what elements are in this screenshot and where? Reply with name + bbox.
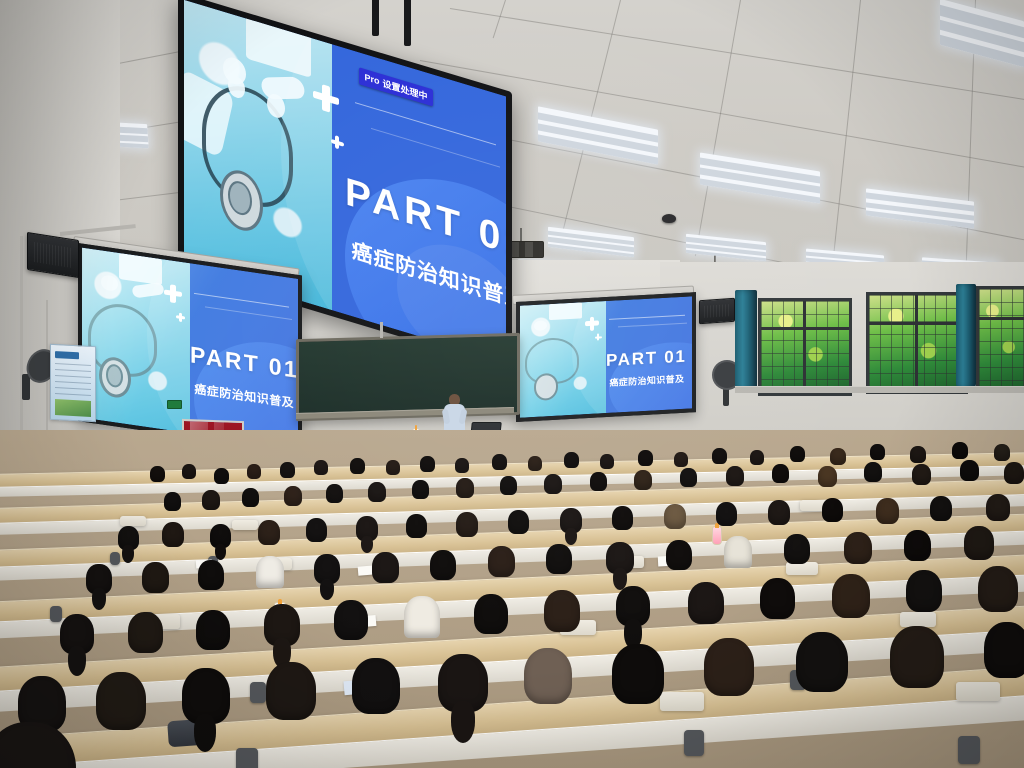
seat-armrest (958, 736, 980, 764)
student (182, 464, 196, 479)
student (86, 564, 112, 594)
seat-back (232, 520, 258, 530)
student (352, 658, 400, 714)
student (638, 450, 653, 466)
student (508, 510, 529, 534)
window (758, 298, 852, 396)
student (247, 464, 261, 479)
tv-ceiling-mount-stalk (404, 0, 411, 46)
student (196, 610, 230, 650)
student (314, 460, 328, 475)
student (822, 498, 843, 522)
student (910, 446, 926, 463)
student (864, 462, 882, 482)
medical-cross-icon (164, 283, 182, 304)
student (960, 460, 979, 481)
student (118, 526, 139, 550)
student (546, 544, 572, 574)
seat-back (900, 612, 936, 627)
tv-ceiling-mount-stalk (372, 0, 379, 36)
seat-back (956, 682, 1000, 701)
student (906, 570, 942, 612)
student (350, 458, 365, 474)
student (524, 648, 572, 704)
student (406, 514, 427, 538)
student (612, 644, 664, 704)
poster-photo (55, 399, 92, 417)
student (266, 662, 316, 720)
pill-jar-lid (101, 274, 117, 292)
student (830, 448, 846, 465)
student (306, 518, 327, 542)
student (994, 444, 1010, 461)
wall-conduit (20, 236, 23, 451)
student (256, 556, 284, 588)
student (560, 508, 582, 533)
evacuation-notice-poster (50, 344, 96, 422)
window-curtain (956, 284, 976, 388)
student (474, 594, 508, 634)
student (704, 638, 754, 696)
student (280, 462, 295, 478)
pill-jar-lid (534, 320, 547, 331)
student (844, 532, 872, 564)
chalkboard-hanger (380, 322, 383, 338)
student (162, 522, 184, 547)
drink-cup (712, 526, 722, 545)
student (142, 562, 169, 593)
student (666, 540, 692, 570)
dome-security-camera (662, 214, 676, 223)
student (488, 546, 515, 577)
student (634, 470, 652, 490)
stethoscope-chestpiece (534, 373, 559, 401)
student (984, 622, 1024, 678)
pill-blister-pack (549, 302, 582, 319)
pro-badge-prefix: Pro (364, 72, 379, 87)
student (456, 478, 474, 498)
student (528, 456, 542, 471)
student (264, 604, 300, 646)
student (674, 452, 688, 467)
student (430, 550, 456, 580)
audience-seating-area: You Have To Believe (0, 430, 1024, 768)
student (198, 560, 224, 590)
student (96, 672, 146, 730)
medical-cross-icon-small (176, 312, 185, 322)
student (772, 464, 789, 483)
student (372, 552, 399, 583)
student (420, 456, 435, 472)
student (606, 542, 634, 574)
student (564, 452, 579, 468)
slide-part-01-right: PART 01 癌症防治知识普及 (520, 296, 692, 417)
seat-armrest (236, 748, 258, 768)
student (210, 524, 231, 548)
student (912, 464, 931, 485)
student (356, 516, 378, 541)
student (832, 574, 870, 618)
student (412, 480, 429, 499)
student (904, 530, 931, 561)
student (60, 614, 94, 654)
student (492, 454, 507, 470)
student (404, 596, 440, 638)
student (368, 482, 386, 502)
student (616, 586, 650, 626)
student (726, 466, 744, 486)
projection-screen-right[interactable]: PART 01 癌症防治知识普及 (516, 292, 696, 422)
student (242, 488, 259, 507)
student (314, 554, 340, 584)
student (876, 498, 899, 524)
student (590, 472, 607, 491)
window-curtain (735, 290, 757, 390)
student (1004, 462, 1024, 484)
student (214, 468, 229, 484)
student (818, 466, 837, 487)
student (784, 534, 810, 564)
student (870, 444, 885, 460)
window-sill (735, 386, 1024, 393)
student (182, 668, 230, 724)
student (712, 448, 727, 464)
student (790, 446, 805, 462)
student (612, 506, 633, 530)
student (930, 496, 952, 521)
seat-back (120, 516, 146, 526)
seat-back (660, 692, 704, 711)
student (760, 578, 795, 619)
student (768, 500, 790, 525)
student (386, 460, 400, 475)
exit-sign (167, 400, 182, 409)
seat-armrest (250, 682, 266, 703)
seat-armrest (684, 730, 704, 756)
student (334, 600, 368, 640)
student (724, 536, 752, 568)
student (600, 454, 614, 469)
student (128, 612, 163, 653)
student (890, 626, 944, 688)
student (500, 476, 517, 495)
lecture-hall-photo: PART 01 癌症防治知识普及 Pro 设置处理中 (0, 0, 1024, 768)
student (964, 526, 994, 560)
medical-cross-icon-small (595, 334, 602, 341)
student (150, 466, 165, 482)
student (750, 450, 764, 465)
student (456, 512, 478, 537)
student (284, 486, 302, 506)
student (164, 492, 181, 511)
window (976, 286, 1024, 392)
student (258, 520, 280, 545)
wall-speaker-left (27, 232, 79, 278)
student (438, 654, 488, 712)
student (680, 468, 697, 487)
student (202, 490, 220, 510)
student (796, 632, 848, 692)
student-foreground (0, 722, 76, 768)
student (952, 442, 968, 459)
window (866, 292, 968, 394)
student (544, 590, 580, 632)
student (986, 494, 1010, 521)
student (544, 474, 562, 494)
student (664, 504, 686, 529)
student (978, 566, 1018, 612)
wall-speaker-right (699, 298, 735, 325)
student (688, 582, 724, 624)
medical-cross-icon (585, 316, 599, 331)
student (455, 458, 469, 473)
student (326, 484, 343, 503)
student (716, 502, 737, 526)
